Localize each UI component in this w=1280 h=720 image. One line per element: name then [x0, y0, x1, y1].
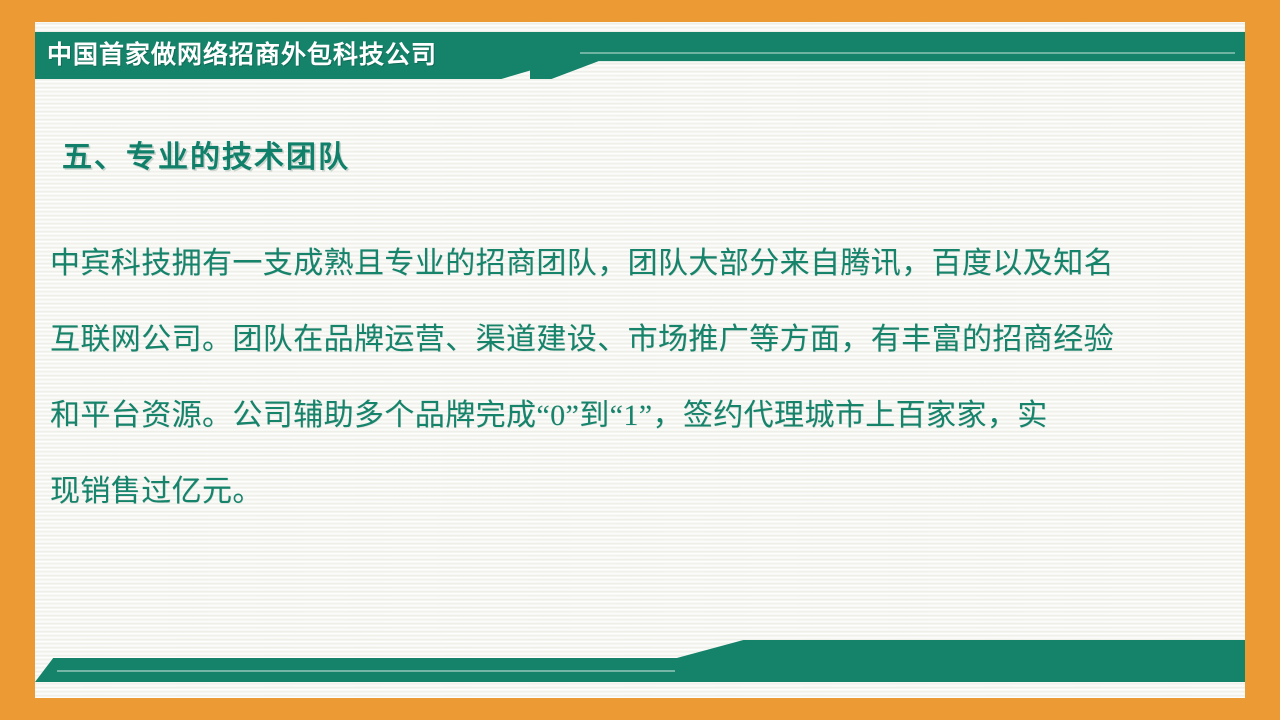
section-heading: 五、专业的技术团队 [62, 132, 350, 176]
body-line: 现销售过亿元。 [50, 454, 1190, 530]
footer-accent-line [57, 670, 737, 672]
header-green-right-shape [530, 32, 1245, 79]
body-line-text: 和平台资源。公司辅助多个品牌完成“0”到“1”，签约代理城市上百家家，实 [50, 378, 1048, 454]
header-title: 中国首家做网络招商外包科技公司 [47, 32, 437, 79]
body-line-text: 中宾科技拥有一支成熟且专业的招商团队，团队大部分来自腾讯，百度以及知名 [50, 226, 1114, 302]
body-line-text: 互联网公司。团队在品牌运营、渠道建设、市场推广等方面，有丰富的招商经验 [50, 302, 1114, 378]
body-line: 互联网公司。团队在品牌运营、渠道建设、市场推广等方面，有丰富的招商经验 [50, 302, 1190, 378]
footer-green-right-shape: 按效果付费，前期不收任何费用 [675, 640, 1245, 682]
footer-banner: 按效果付费，前期不收任何费用 [35, 640, 1245, 698]
body-line: 和平台资源。公司辅助多个品牌完成“0”到“1”，签约代理城市上百家家，实 [50, 378, 1190, 454]
slide-canvas: 中国首家做网络招商外包科技公司 五、专业的技术团队 中宾科技拥有一支成熟且专业的… [0, 0, 1280, 720]
body-line: 中宾科技拥有一支成熟且专业的招商团队，团队大部分来自腾讯，百度以及知名 [50, 226, 1190, 302]
header-banner: 中国首家做网络招商外包科技公司 [35, 32, 1245, 79]
header-accent-line [580, 52, 1235, 54]
body-paragraph: 中宾科技拥有一支成熟且专业的招商团队，团队大部分来自腾讯，百度以及知名 互联网公… [50, 226, 1190, 530]
body-line-text: 现销售过亿元。 [50, 475, 263, 508]
